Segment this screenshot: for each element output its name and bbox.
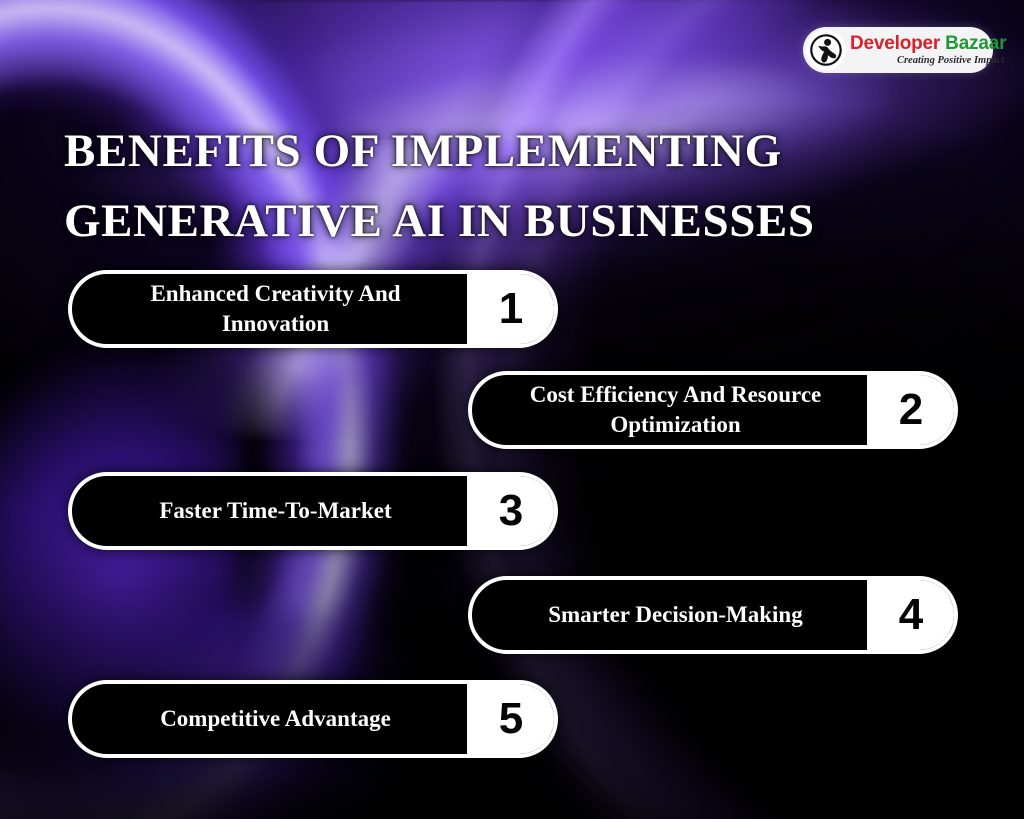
benefit-label-2: Cost Efficiency And Resource Optimizatio… <box>472 375 867 445</box>
benefit-number-2: 2 <box>867 375 955 445</box>
benefit-number-4: 4 <box>867 580 955 650</box>
benefit-item-1: Enhanced Creativity And Innovation 1 <box>68 270 558 348</box>
page-title-line-2: GENERATIVE AI IN BUSINESSES <box>64 187 944 257</box>
benefit-number-5: 5 <box>467 684 555 754</box>
benefit-label-4: Smarter Decision-Making <box>472 580 867 650</box>
benefit-number-1: 1 <box>467 274 555 344</box>
infographic-poster: Developer Bazaar Creating Positive Impac… <box>0 0 1024 819</box>
logo-wordmark: Developer Bazaar <box>850 34 1006 53</box>
benefit-item-3: Faster Time-To-Market 3 <box>68 472 558 550</box>
logo-tagline: Creating Positive Impact <box>850 56 1006 67</box>
page-title: BENEFITS OF IMPLEMENTING GENERATIVE AI I… <box>64 117 944 256</box>
brand-logo: Developer Bazaar Creating Positive Impac… <box>803 27 993 73</box>
benefit-label-1: Enhanced Creativity And Innovation <box>72 274 467 344</box>
page-title-line-1: BENEFITS OF IMPLEMENTING <box>64 117 944 187</box>
logo-word-developer: Developer <box>850 33 940 54</box>
benefit-item-4: Smarter Decision-Making 4 <box>468 576 958 654</box>
benefit-label-5: Competitive Advantage <box>72 684 467 754</box>
benefit-label-3: Faster Time-To-Market <box>72 476 467 546</box>
benefit-item-2: Cost Efficiency And Resource Optimizatio… <box>468 371 958 449</box>
logo-word-bazaar: Bazaar <box>945 33 1006 54</box>
logo-text-block: Developer Bazaar Creating Positive Impac… <box>846 34 1014 67</box>
logo-figure-icon <box>806 30 846 70</box>
benefit-number-3: 3 <box>467 476 555 546</box>
benefit-item-5: Competitive Advantage 5 <box>68 680 558 758</box>
